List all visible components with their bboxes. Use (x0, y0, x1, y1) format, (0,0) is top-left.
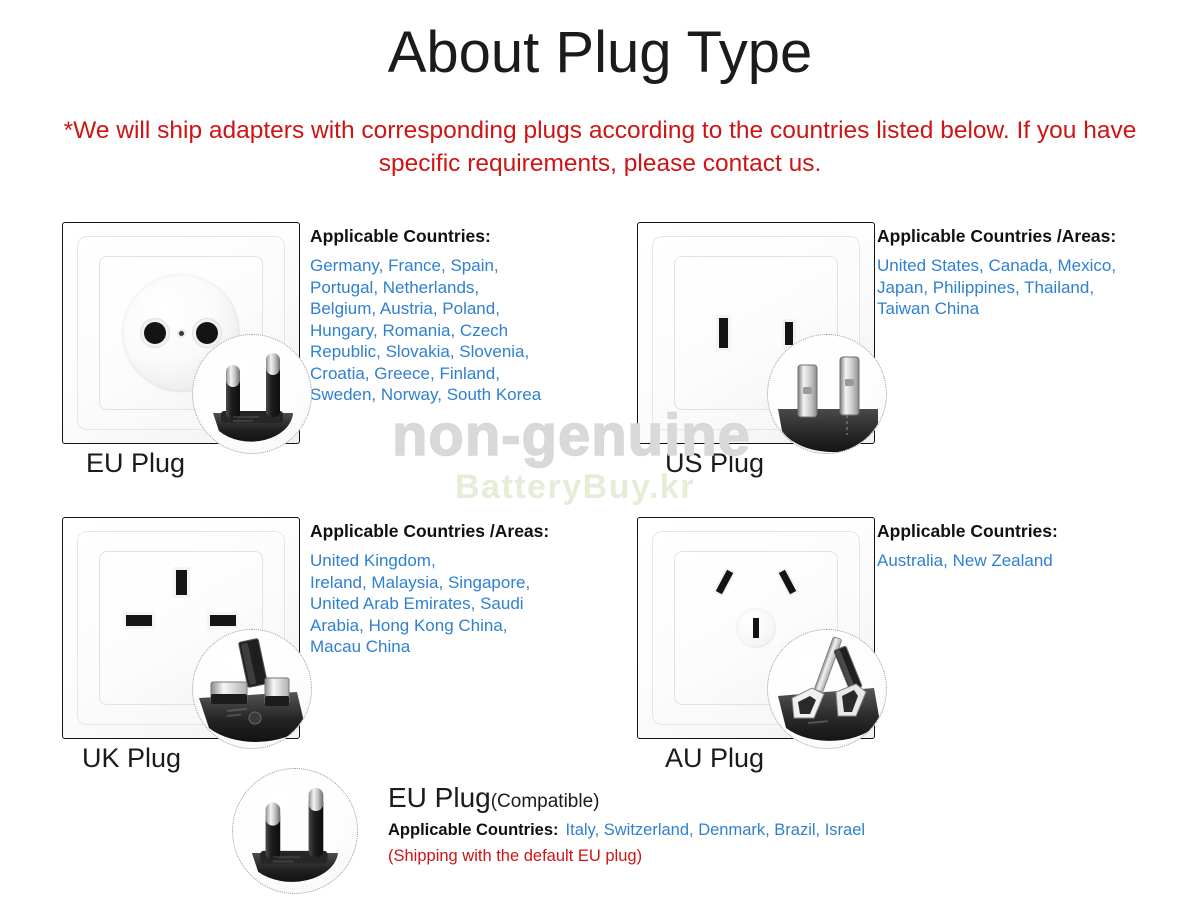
country-line: Macau China (310, 636, 549, 658)
au-plug-closeup-icon (767, 629, 887, 749)
country-line: Australia, New Zealand (877, 550, 1058, 572)
country-line: Germany, France, Spain, (310, 255, 541, 277)
country-line: United States, Canada, Mexico, (877, 255, 1116, 277)
uk-plug-closeup-icon (192, 629, 312, 749)
country-column-us: Applicable Countries /Areas: United Stat… (877, 226, 1116, 320)
compatible-plug-name: EU Plug (388, 782, 491, 813)
country-line: United Arab Emirates, Saudi (310, 593, 549, 615)
uk-neutral-slot-icon (210, 615, 236, 626)
country-list-uk: United Kingdom, Ireland, Malaysia, Singa… (310, 550, 549, 658)
country-line: Ireland, Malaysia, Singapore, (310, 572, 549, 594)
page-title: About Plug Type (0, 22, 1200, 84)
us-slot-left-icon (719, 318, 728, 348)
plug-label-us: US Plug (665, 448, 764, 478)
socket-us (637, 222, 875, 444)
compatible-countries-list: Italy, Switzerland, Denmark, Brazil, Isr… (559, 821, 866, 839)
eu-pin-hole-right-icon (196, 322, 218, 344)
country-list-eu: Germany, France, Spain, Portugal, Nether… (310, 255, 541, 406)
socket-eu (62, 222, 300, 444)
eu-pin-hole-left-icon (144, 322, 166, 344)
compatible-plug-suffix: (Compatible) (491, 791, 600, 812)
uk-live-slot-icon (126, 615, 152, 626)
plug-type-infographic: About Plug Type *We will ship adapters w… (0, 0, 1200, 900)
watermark-batterybuy: BatteryBuy.kr (455, 468, 695, 507)
plug-label-au: AU Plug (665, 743, 764, 773)
plug-label-eu: EU Plug (86, 448, 185, 478)
country-line: Sweden, Norway, South Korea (310, 384, 541, 406)
country-line: Arabia, Hong Kong China, (310, 615, 549, 637)
country-column-uk: Applicable Countries /Areas: United King… (310, 521, 549, 658)
country-column-au: Applicable Countries: Australia, New Zea… (877, 521, 1058, 572)
eu-plug-closeup-icon (192, 334, 312, 454)
plug-label-uk: UK Plug (82, 743, 181, 773)
uk-earth-slot-icon (176, 570, 187, 595)
country-heading-uk: Applicable Countries /Areas: (310, 521, 549, 541)
socket-au (637, 517, 875, 739)
us-plug-closeup-icon (767, 334, 887, 454)
country-list-us: United States, Canada, Mexico, Japan, Ph… (877, 255, 1116, 320)
country-heading-eu: Applicable Countries: (310, 226, 541, 246)
plug-block-us: US Plug (637, 222, 875, 444)
compatible-shipping-note: (Shipping with the default EU plug) (388, 846, 642, 867)
country-heading-us: Applicable Countries /Areas: (877, 226, 1116, 246)
country-column-eu: Applicable Countries: Germany, France, S… (310, 226, 541, 406)
plug-block-au: AU Plug (637, 517, 875, 739)
country-list-au: Australia, New Zealand (877, 550, 1058, 572)
country-line: Portugal, Netherlands, (310, 277, 541, 299)
country-line: Belgium, Austria, Poland, (310, 298, 541, 320)
country-line: Republic, Slovakia, Slovenia, (310, 341, 541, 363)
eu-compatible-plug-closeup-icon (232, 768, 358, 894)
country-line: Hungary, Romania, Czech (310, 320, 541, 342)
au-slot-right-icon (779, 570, 796, 594)
country-heading-au: Applicable Countries: (877, 521, 1058, 541)
au-slot-left-icon (716, 570, 733, 594)
country-line: Taiwan China (877, 298, 1116, 320)
compatible-countries-row: Applicable Countries:Italy, Switzerland,… (388, 820, 865, 841)
plug-block-uk: UK Plug (62, 517, 300, 739)
plug-block-eu: EU Plug (62, 222, 300, 444)
socket-uk (62, 517, 300, 739)
country-line: Croatia, Greece, Finland, (310, 363, 541, 385)
au-earth-recess-icon (736, 608, 776, 648)
shipping-notice: *We will ship adapters with correspondin… (60, 114, 1140, 180)
eu-center-dot-icon (179, 331, 184, 336)
compatible-plug-title: EU Plug(Compatible) (388, 783, 599, 817)
compatible-countries-heading: Applicable Countries: (388, 821, 559, 839)
country-line: United Kingdom, (310, 550, 549, 572)
country-line: Japan, Philippines, Thailand, (877, 277, 1116, 299)
us-slot-right-icon (785, 322, 793, 345)
